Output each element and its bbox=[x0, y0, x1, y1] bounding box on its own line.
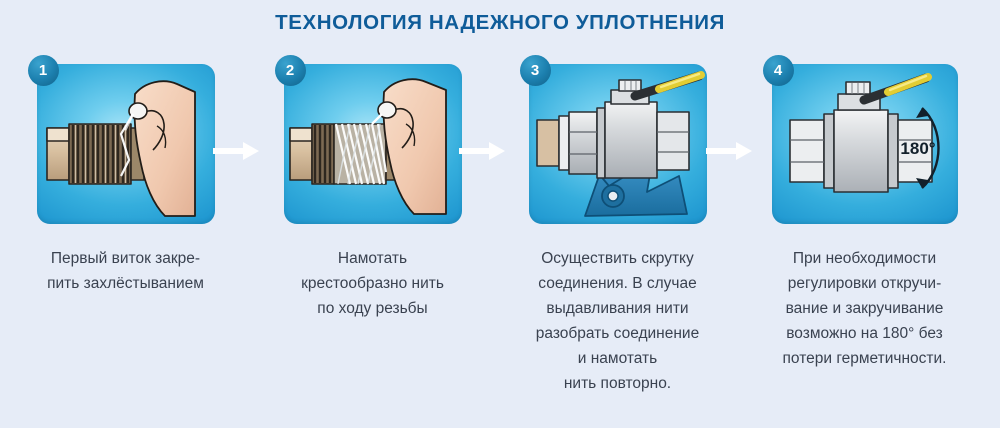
step-3: 3 Осуществить скрутку соединения. В случ… bbox=[495, 52, 740, 396]
step-number-4: 4 bbox=[763, 55, 794, 86]
step-4-caption: При необходимости регулировки откручи- в… bbox=[749, 246, 981, 371]
page-title: ТЕХНОЛОГИЯ НАДЕЖНОГО УПЛОТНЕНИЯ bbox=[0, 11, 1000, 35]
step-4-illustration: 180° bbox=[772, 64, 958, 224]
step-3-illustration-panel: 3 bbox=[529, 64, 707, 224]
step-3-caption: Осуществить скрутку соединения. В случае… bbox=[502, 246, 734, 396]
valve-with-wrench-icon bbox=[529, 64, 707, 224]
step-2-illustration-panel: 2 bbox=[284, 64, 462, 224]
step-number-1: 1 bbox=[28, 55, 59, 86]
step-1: 1 Первый виток закре- пить захлёстывание… bbox=[3, 52, 248, 296]
step-2: 2 Намотать крестообразно нить по ходу ре… bbox=[250, 52, 495, 321]
hand-wrapping-thread-icon bbox=[37, 64, 215, 224]
step-1-caption: Первый виток закре- пить захлёстыванием bbox=[8, 246, 244, 296]
step-number-2: 2 bbox=[275, 55, 306, 86]
step-1-illustration bbox=[37, 64, 215, 224]
steps-row: 1 Первый виток закре- пить захлёстывание… bbox=[0, 52, 1000, 428]
step-2-illustration bbox=[284, 64, 462, 224]
valve-rotation-icon: 180° bbox=[772, 64, 958, 224]
hand-crosswise-wrap-icon bbox=[284, 64, 462, 224]
step-4-illustration-panel: 180° 4 bbox=[772, 64, 958, 224]
step-2-caption: Намотать крестообразно нить по ходу резь… bbox=[257, 246, 489, 321]
step-1-illustration-panel: 1 bbox=[37, 64, 215, 224]
step-number-3: 3 bbox=[520, 55, 551, 86]
step-3-illustration bbox=[529, 64, 707, 224]
rotation-angle-label: 180° bbox=[900, 139, 935, 158]
step-4: 180° 4 При необходимости регулировки отк… bbox=[742, 52, 987, 371]
